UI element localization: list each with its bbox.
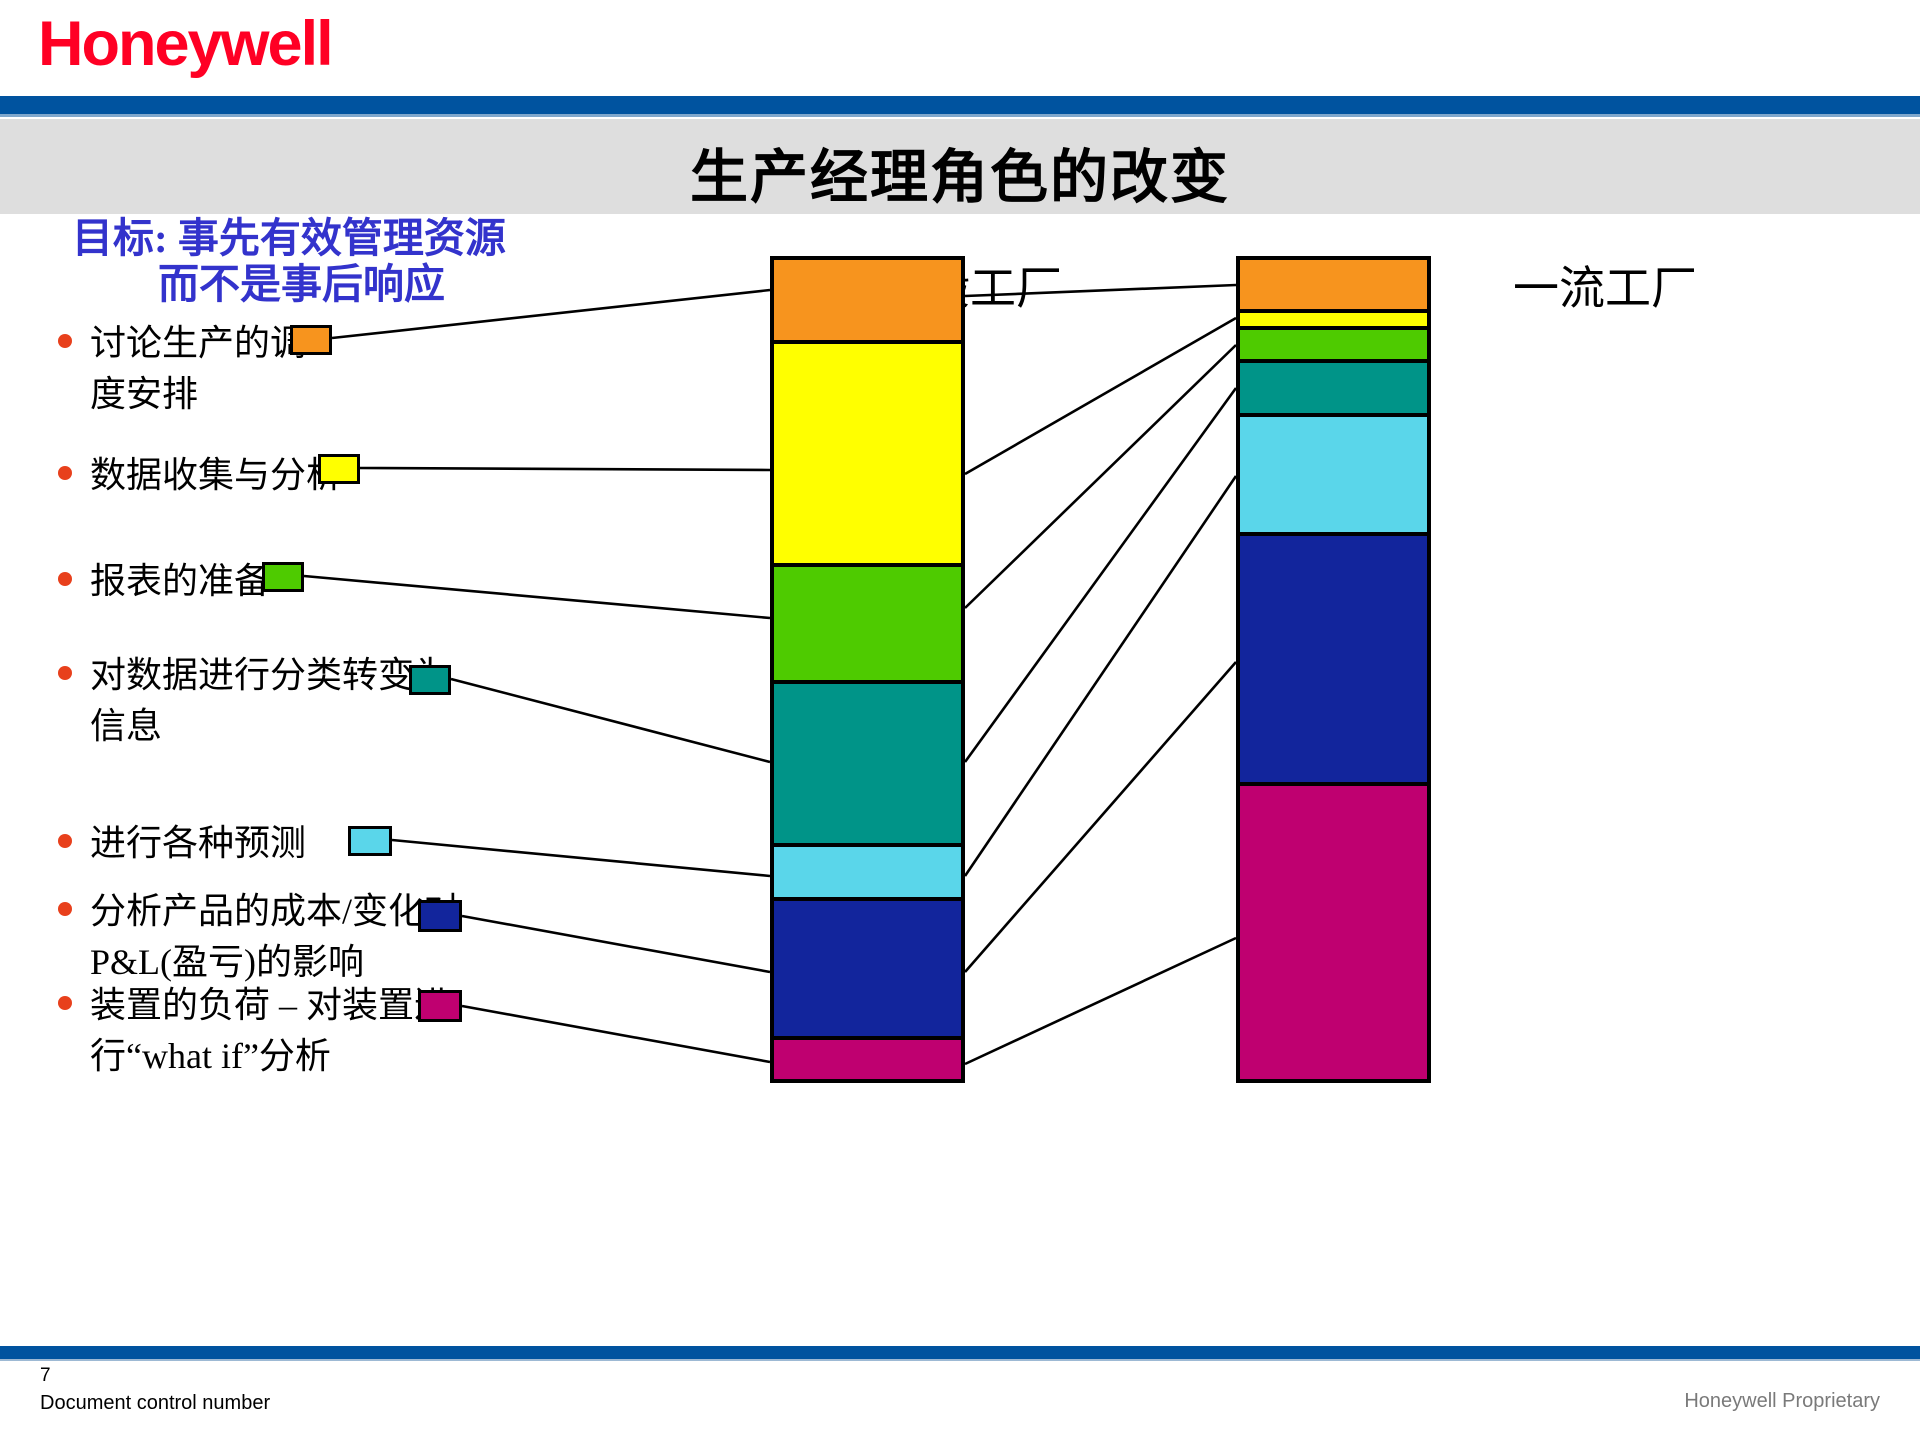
column-header-best-plant: 一流工厂: [1430, 252, 1780, 318]
bar-average-plant: [770, 256, 965, 1083]
footer-blue-rule-thin: [0, 1359, 1920, 1361]
bullet-item: 对数据进行分类转变为 信息: [58, 650, 698, 752]
legend-color-swatch: [290, 325, 332, 355]
bullet-label: 数据收集与分析: [90, 450, 698, 501]
footer-blue-rule: [0, 1346, 1920, 1359]
goal-statement: 目标: 事先有效管理资源 而不是事后响应: [72, 216, 592, 308]
bullet-item: 分析产品的成本/变化对 P&L(盈亏)的影响: [58, 886, 698, 988]
page-number: 7: [40, 1365, 51, 1387]
bar-segment: [774, 1040, 961, 1079]
bullet-label: 报表的准备: [90, 556, 698, 607]
bullet-dot-icon: [58, 834, 72, 848]
header-blue-rule-thin: [0, 114, 1920, 117]
page-title: 生产经理角色的改变: [0, 130, 1920, 214]
bullet-label: 进行各种预测: [90, 818, 698, 869]
bullet-dot-icon: [58, 666, 72, 680]
bar-segment: [774, 847, 961, 901]
bullet-dot-icon: [58, 996, 72, 1010]
bullet-item: 数据收集与分析: [58, 450, 698, 501]
bar-segment: [774, 260, 961, 344]
legend-color-swatch: [262, 562, 304, 592]
legend-color-swatch: [418, 900, 462, 932]
bar-segment: [774, 684, 961, 847]
bar-segment: [1240, 417, 1427, 536]
bullet-label: 对数据进行分类转变为 信息: [90, 650, 698, 752]
bar-segment: [774, 901, 961, 1040]
bullet-item: 装置的负荷 – 对装置进 行“what if”分析: [58, 980, 698, 1082]
proprietary-notice: Honeywell Proprietary: [1684, 1390, 1880, 1413]
honeywell-logo: Honeywell: [38, 13, 332, 76]
bar-segment: [774, 344, 961, 567]
legend-color-swatch: [418, 990, 462, 1022]
bar-segment: [1240, 363, 1427, 417]
bar-segment: [1240, 536, 1427, 786]
goal-line-2: 而不是事后响应: [72, 262, 592, 308]
bar-segment: [774, 567, 961, 684]
bullet-dot-icon: [58, 466, 72, 480]
bar-segment: [1240, 330, 1427, 363]
bullet-label: 分析产品的成本/变化对 P&L(盈亏)的影响: [90, 886, 698, 988]
legend-color-swatch: [348, 826, 392, 856]
bar-segment: [1240, 260, 1427, 313]
bullet-label: 装置的负荷 – 对装置进 行“what if”分析: [90, 980, 698, 1082]
bar-segment: [1240, 313, 1427, 330]
goal-line-1: 目标: 事先有效管理资源: [72, 216, 592, 262]
header-blue-rule: [0, 96, 1920, 114]
bullet-label: 讨论生产的调 度安排: [90, 318, 698, 420]
bullet-item: 报表的准备: [58, 556, 698, 607]
document-control-number: Document control number: [40, 1392, 270, 1415]
legend-color-swatch: [318, 454, 360, 484]
legend-color-swatch: [409, 665, 451, 695]
bar-best-plant: [1236, 256, 1431, 1083]
bullet-dot-icon: [58, 572, 72, 586]
bullet-dot-icon: [58, 334, 72, 348]
bar-segment: [1240, 786, 1427, 1079]
bullet-item: 讨论生产的调 度安排: [58, 318, 698, 420]
bullet-dot-icon: [58, 902, 72, 916]
